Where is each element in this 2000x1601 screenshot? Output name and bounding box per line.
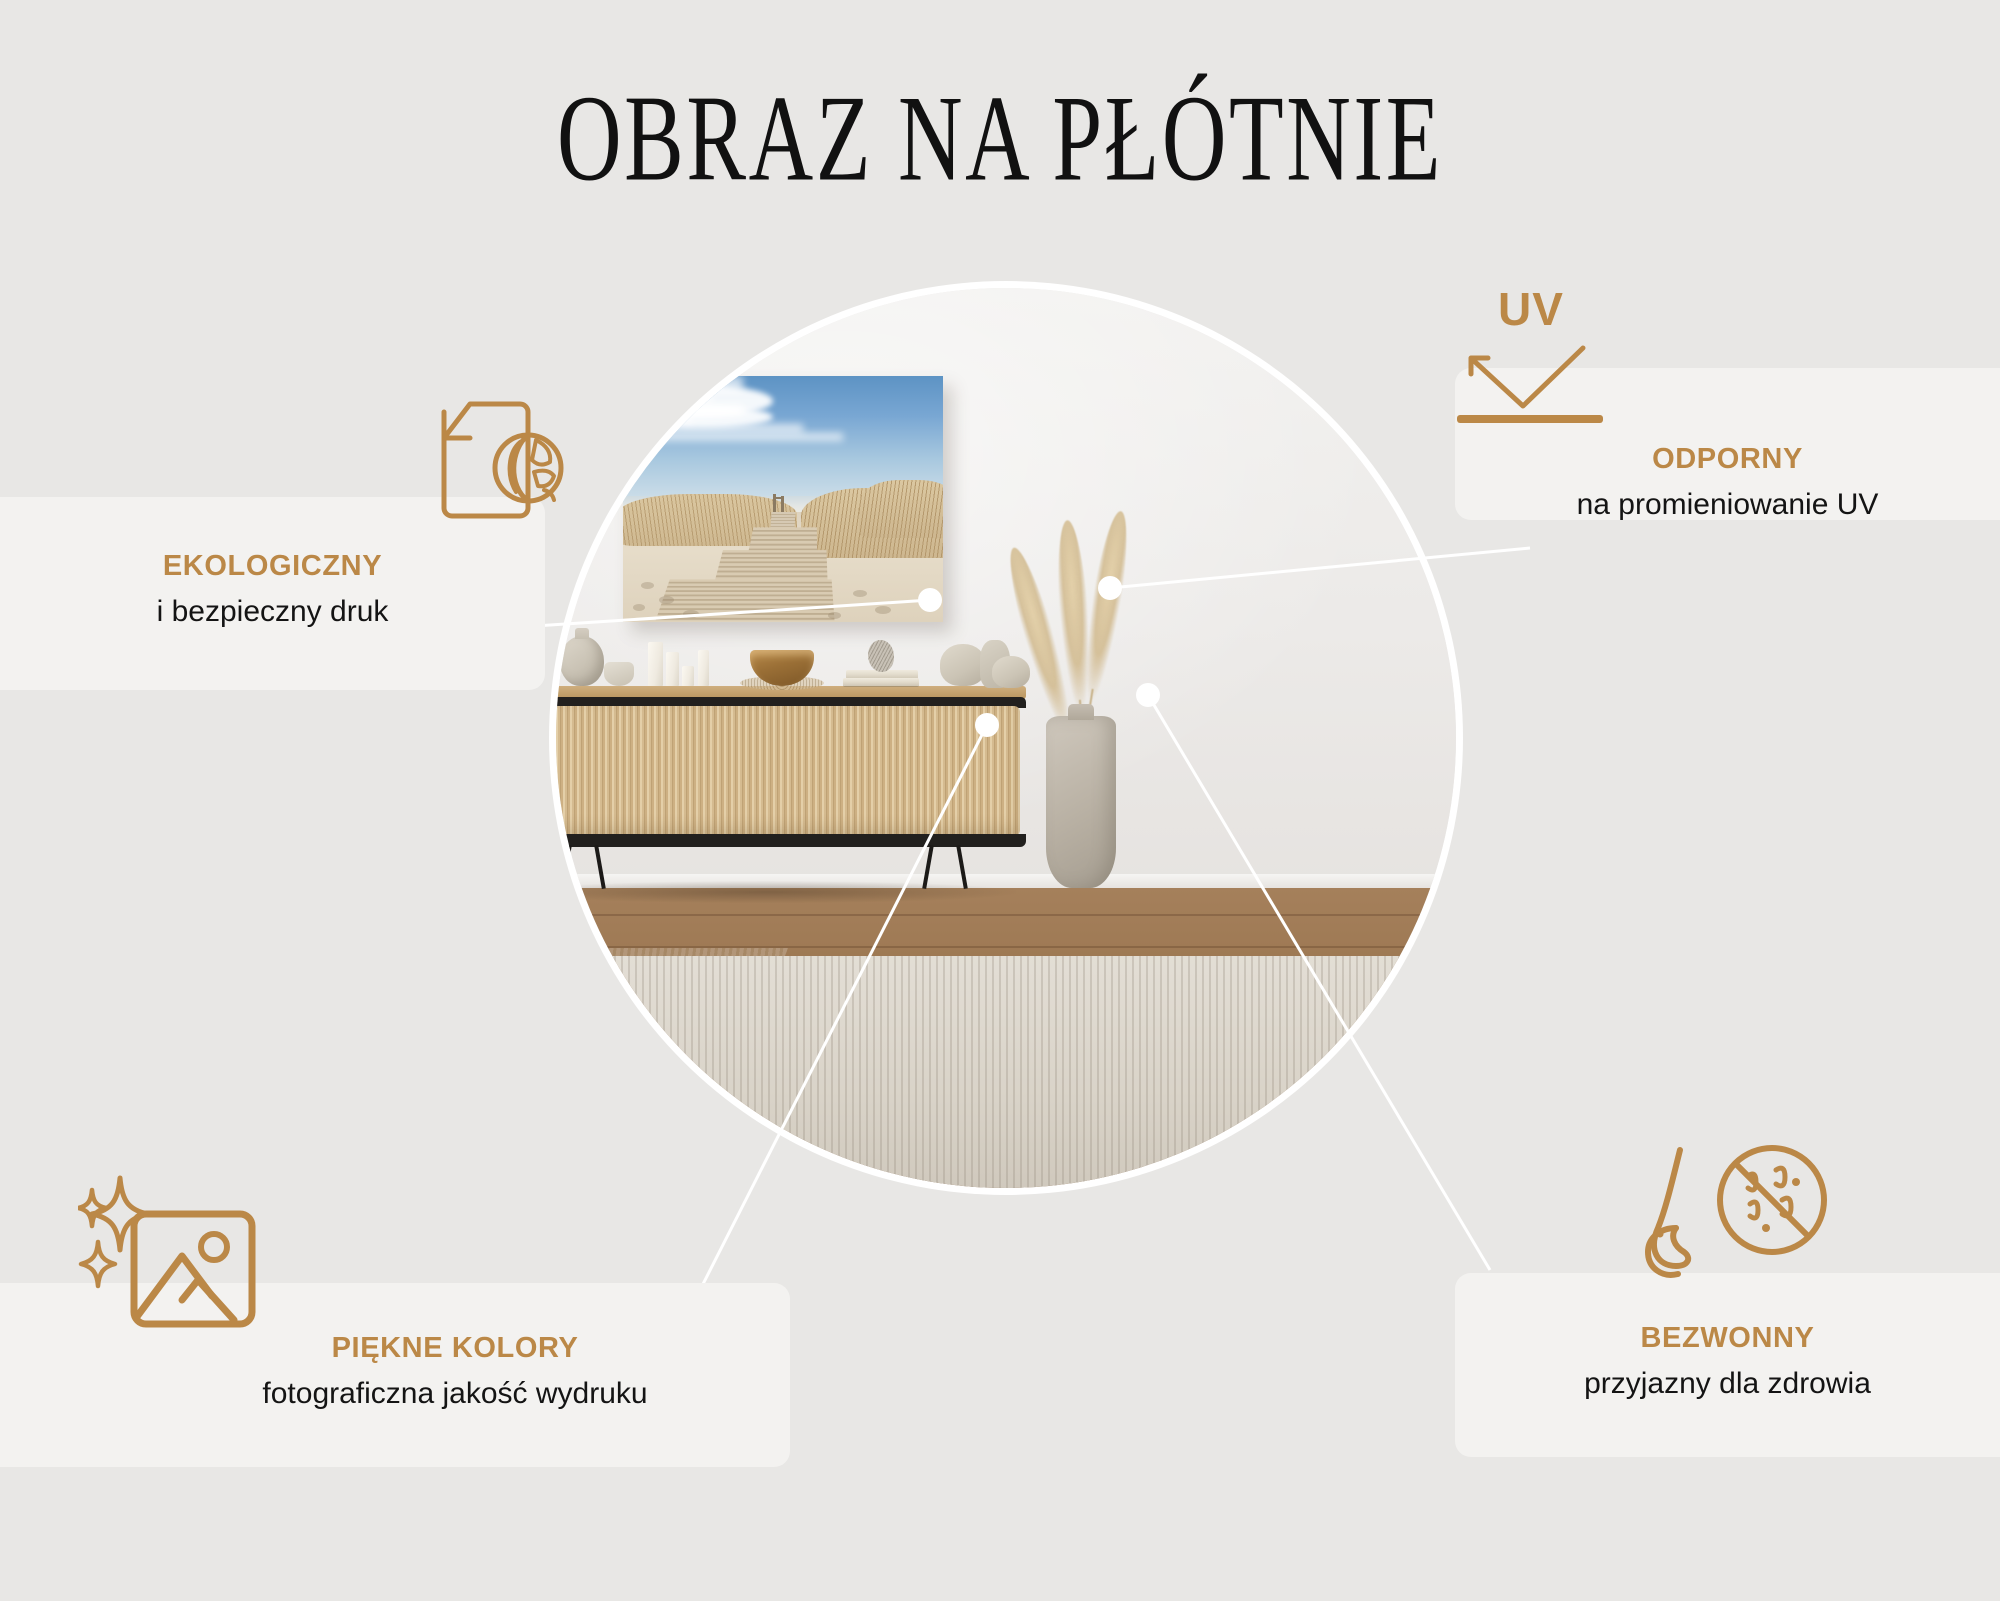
- page-title: OBRAZ NA PŁÓTNIE: [140, 78, 1860, 201]
- room-scene-circle: [556, 288, 1456, 1188]
- feature-title-bezwonny: BEZWONNY: [1455, 1322, 2000, 1355]
- pillar-candle-mid: [666, 652, 679, 686]
- ceramic-bowl-small: [604, 662, 634, 686]
- pillar-candle-slim: [698, 650, 709, 686]
- uv-badge-label: UV: [1498, 282, 1564, 336]
- feature-subtitle-bezwonny: przyjazny dla zdrowia: [1455, 1367, 2000, 1401]
- ceramic-round-vase: [560, 636, 604, 686]
- uv-resistance-icon: [1455, 340, 1635, 430]
- image-sparkle-icon: [78, 1168, 258, 1348]
- feature-subtitle-odporny: na promieniowanie UV: [1455, 488, 2000, 522]
- pillar-candle-tall: [648, 642, 663, 686]
- infographic-canvas: OBRAZ NA PŁÓTNIE: [0, 0, 2000, 1601]
- feature-title-odporny: ODPORNY: [1455, 443, 2000, 476]
- pillar-candle-short: [682, 666, 694, 686]
- beach-boardwalk-canvas-print: [623, 376, 943, 622]
- fluted-wood-sideboard: [556, 686, 1026, 866]
- feature-subtitle-piekne-kolory: fotograficzna jakość wydruku: [155, 1377, 755, 1411]
- ceramic-wide-vase-right: [992, 656, 1030, 688]
- area-rug: [556, 956, 1456, 1188]
- interior-room-photo: [556, 288, 1456, 1188]
- stacked-books-lower: [843, 678, 919, 686]
- eco-document-leaf-globe-icon: [424, 398, 584, 528]
- decorative-stone: [868, 640, 894, 672]
- stoneware-floor-vase: [1046, 716, 1116, 888]
- nose-no-smell-icon: [1630, 1142, 1840, 1302]
- feature-subtitle-ekologiczny: i bezpieczny druk: [0, 595, 545, 629]
- feature-title-ekologiczny: EKOLOGICZNY: [0, 550, 545, 583]
